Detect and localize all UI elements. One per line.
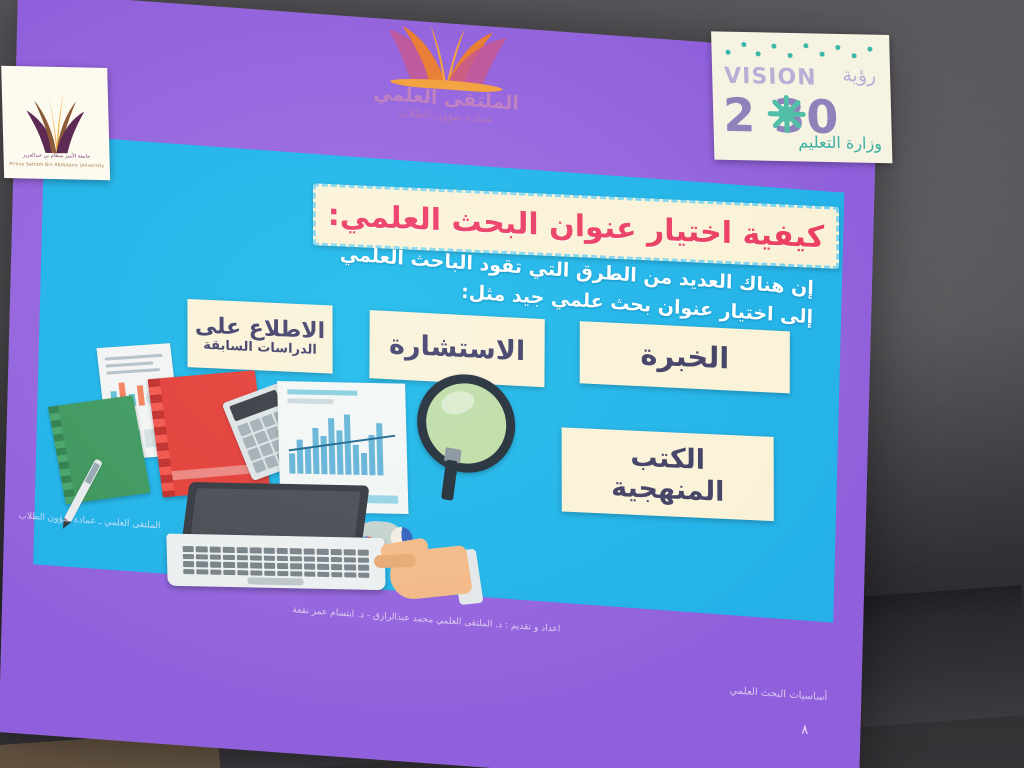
option-label-khibra: الخبرة <box>640 338 729 376</box>
page-number: ٨ <box>801 722 808 738</box>
slide-content-panel: كيفية اختيار عنوان البحث العلمي: إن هناك… <box>33 134 844 622</box>
university-name-ar: جامعة الأمير سطام بن عبدالعزيز <box>3 152 109 160</box>
hand-icon <box>373 527 471 606</box>
vision-wordmark: VISION <box>724 64 817 91</box>
projection-area: كيفية اختيار عنوان البحث العلمي: إن هناك… <box>0 0 1024 768</box>
ministry-of-education-label: وزارة التعليم <box>798 132 882 153</box>
room-scene: كيفية اختيار عنوان البحث العلمي: إن هناك… <box>0 0 1024 768</box>
vision-wordmark-ar: رؤية <box>842 64 876 87</box>
projected-slide: كيفية اختيار عنوان البحث العلمي: إن هناك… <box>0 0 878 768</box>
university-fan-icon <box>18 80 94 156</box>
magnifying-glass-icon <box>399 365 511 508</box>
footer-credit: اعداد و تقديم : د. الملتقى العلمي محمد ع… <box>292 605 560 635</box>
research-illustration <box>53 336 489 597</box>
laptop-icon <box>165 481 388 592</box>
vision-flower-icon <box>765 93 808 136</box>
option-box-khibra: الخبرة <box>580 321 790 393</box>
option-label-kutub-line2: المنهجية <box>611 472 724 508</box>
university-logo: جامعة الأمير سطام بن عبدالعزيز Prince Sa… <box>1 66 110 180</box>
option-label-kutub-line1: الكتب <box>630 441 705 475</box>
vision-dot-pattern <box>721 40 879 61</box>
university-name-en: Prince Sattam Bin Abdulaziz University <box>4 162 110 169</box>
option-box-kutub: الكتب المنهجية <box>562 427 774 521</box>
footer-deck-title: أساسيات البحث العلمي <box>729 685 827 703</box>
green-notebook-icon <box>48 395 150 504</box>
vision-2030-logo: VISION رؤية 2 30 وزارة التعليم <box>711 31 892 163</box>
